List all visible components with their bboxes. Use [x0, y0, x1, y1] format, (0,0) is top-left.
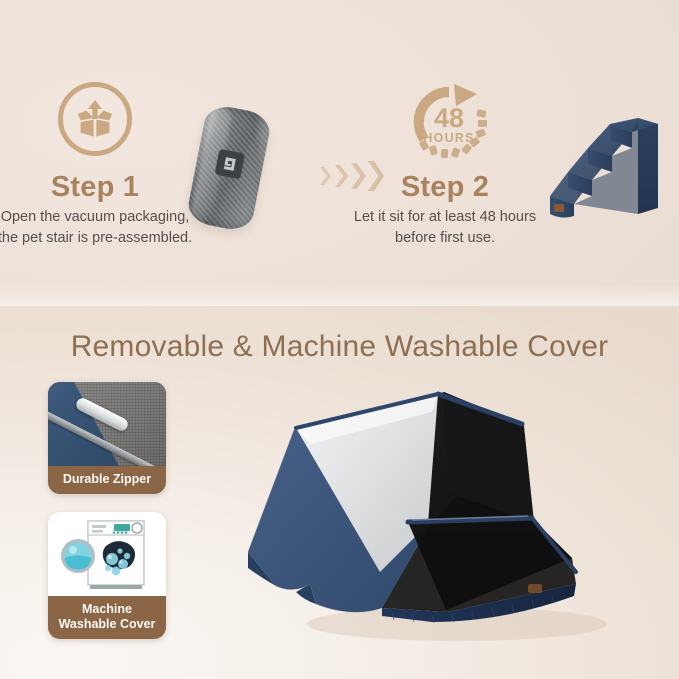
hours-label: HOURS [423, 131, 474, 145]
open-box-icon [58, 82, 132, 156]
step-1-title: Step 1 [5, 171, 185, 204]
brand-tag [554, 204, 564, 212]
48-hours-icon: 48 HOURS [407, 80, 491, 164]
step-2-title: Step 2 [355, 171, 535, 204]
badge-durable-zipper: Durable Zipper [48, 382, 166, 494]
pet-stairs-cover-removal-photo [232, 372, 662, 662]
step-1-description: Open the vacuum packaging, the pet stair… [0, 207, 200, 249]
badge-machine-washable: Machine Washable Cover [48, 512, 166, 639]
section-headline: Removable & Machine Washable Cover [0, 330, 679, 364]
product-logo-label [214, 149, 244, 179]
hours-number: 48 [434, 103, 464, 133]
product-infographic: 48 HOURS [0, 0, 679, 679]
washable-cover-section: Removable & Machine Washable Cover Durab… [0, 306, 679, 679]
badge-caption: Machine Washable Cover [48, 596, 166, 639]
badge-caption: Durable Zipper [48, 466, 166, 494]
setup-steps-section: 48 HOURS [0, 0, 679, 306]
zipper-closeup-photo [48, 382, 166, 466]
step-2-description: Let it sit for at least 48 hours before … [340, 207, 550, 249]
brand-tag [528, 584, 542, 593]
washing-machine-icon [48, 512, 166, 596]
navy-pet-stairs-photo [540, 104, 672, 226]
